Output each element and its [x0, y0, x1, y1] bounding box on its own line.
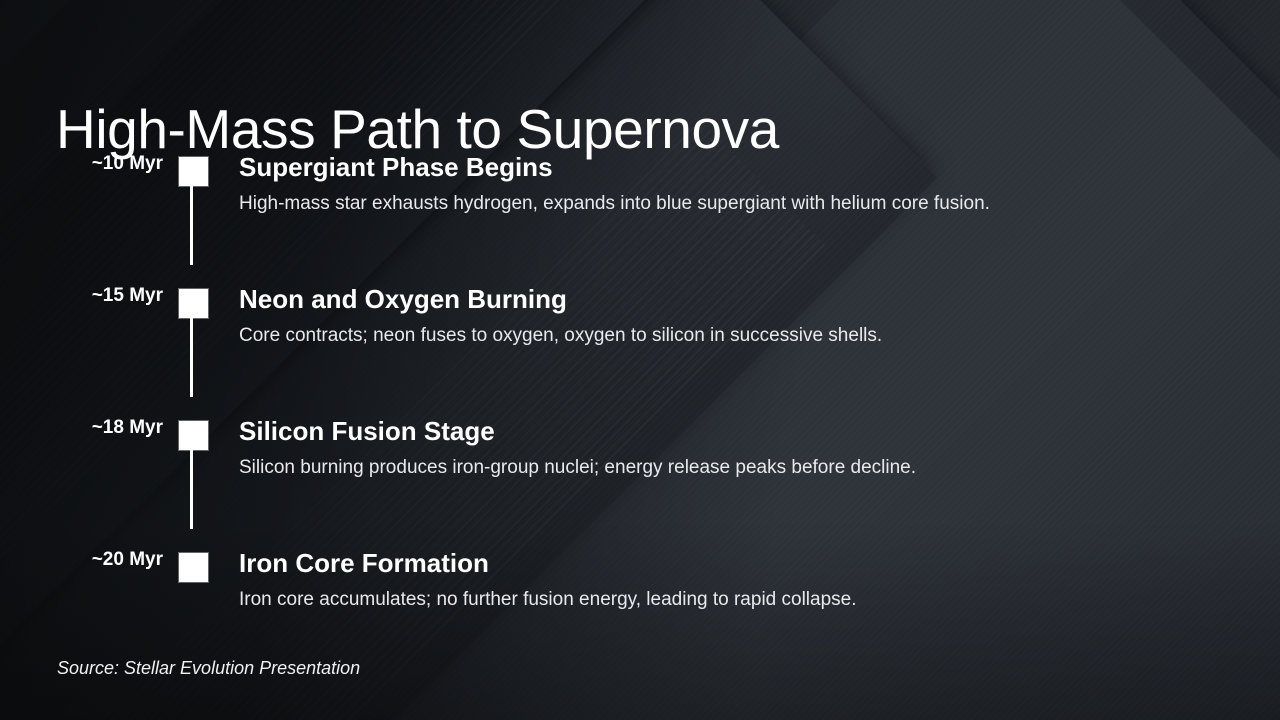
presentation-slide: High-Mass Path to Supernova ~10 Myr Supe… [0, 0, 1280, 720]
source-note: Source: Stellar Evolution Presentation [57, 658, 360, 679]
timeline-item-body: Silicon Fusion Stage Silicon burning pro… [239, 414, 1240, 481]
timeline-connector-line [190, 318, 193, 397]
timeline-item-description: Silicon burning produces iron-group nucl… [239, 455, 1240, 481]
timeline-item: ~15 Myr Neon and Oxygen Burning Core con… [0, 282, 1280, 414]
timeline-item-body: Iron Core Formation Iron core accumulate… [239, 546, 1240, 613]
timeline-item-title: Neon and Oxygen Burning [239, 282, 1240, 316]
timeline-item-title: Silicon Fusion Stage [239, 414, 1240, 448]
timeline-connector-line [190, 186, 193, 265]
square-marker-icon [179, 157, 208, 186]
timeline-item-description: Core contracts; neon fuses to oxygen, ox… [239, 323, 1240, 349]
timeline-connector-line [190, 450, 193, 529]
square-marker-icon [179, 289, 208, 318]
timeline-item-body: Neon and Oxygen Burning Core contracts; … [239, 282, 1240, 349]
timeline-item: ~20 Myr Iron Core Formation Iron core ac… [0, 546, 1280, 646]
slide-content: High-Mass Path to Supernova ~10 Myr Supe… [0, 0, 1280, 720]
timeline-item-description: High-mass star exhausts hydrogen, expand… [239, 191, 1240, 217]
timeline-item-body: Supergiant Phase Begins High-mass star e… [239, 150, 1240, 217]
timeline-date-label: ~20 Myr [0, 549, 163, 571]
square-marker-icon [179, 421, 208, 450]
timeline-date-label: ~15 Myr [0, 285, 163, 307]
square-marker-icon [179, 553, 208, 582]
timeline-item: ~18 Myr Silicon Fusion Stage Silicon bur… [0, 414, 1280, 546]
timeline-item-title: Iron Core Formation [239, 546, 1240, 580]
timeline-date-label: ~10 Myr [0, 153, 163, 175]
timeline-item: ~10 Myr Supergiant Phase Begins High-mas… [0, 150, 1280, 282]
timeline: ~10 Myr Supergiant Phase Begins High-mas… [0, 150, 1280, 646]
timeline-item-description: Iron core accumulates; no further fusion… [239, 587, 1240, 613]
timeline-item-title: Supergiant Phase Begins [239, 150, 1240, 184]
timeline-date-label: ~18 Myr [0, 417, 163, 439]
